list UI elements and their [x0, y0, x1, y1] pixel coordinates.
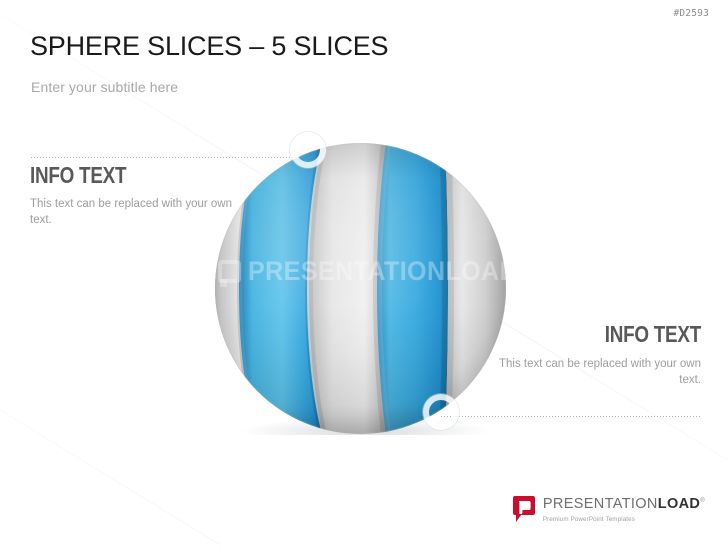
- slide-canvas: #D2593 SPHERE SLICES – 5 SLICES Enter yo…: [0, 0, 727, 545]
- callout-left-heading[interactable]: INFO TEXT: [30, 163, 202, 187]
- sliced-sphere-graphic[interactable]: [215, 142, 506, 435]
- callout-right: INFO TEXT This text can be replaced with…: [486, 322, 701, 389]
- logo-speech-bubble-icon: [513, 496, 535, 522]
- logo-wordmark: PRESENTATIONLOAD®: [543, 496, 705, 512]
- logo-name-bold: LOAD: [658, 496, 700, 512]
- callout-left: INFO TEXT This text can be replaced with…: [30, 163, 240, 229]
- document-id-label: #D2593: [673, 8, 709, 19]
- page-title: SPHERE SLICES – 5 SLICES: [30, 31, 388, 62]
- logo-name-light: PRESENTATION: [543, 496, 658, 512]
- callout-right-body[interactable]: This text can be replaced with your own …: [486, 356, 701, 389]
- presentationload-logo[interactable]: PRESENTATIONLOAD® Premium PowerPoint Tem…: [513, 495, 705, 523]
- logo-tagline: Premium PowerPoint Templates: [543, 516, 705, 523]
- page-subtitle[interactable]: Enter your subtitle here: [31, 79, 178, 95]
- callout-right-heading[interactable]: INFO TEXT: [525, 322, 701, 346]
- logo-text: PRESENTATIONLOAD® Premium PowerPoint Tem…: [543, 495, 705, 523]
- logo-trademark: ®: [700, 498, 705, 504]
- callout-left-body[interactable]: This text can be replaced with your own …: [30, 196, 240, 229]
